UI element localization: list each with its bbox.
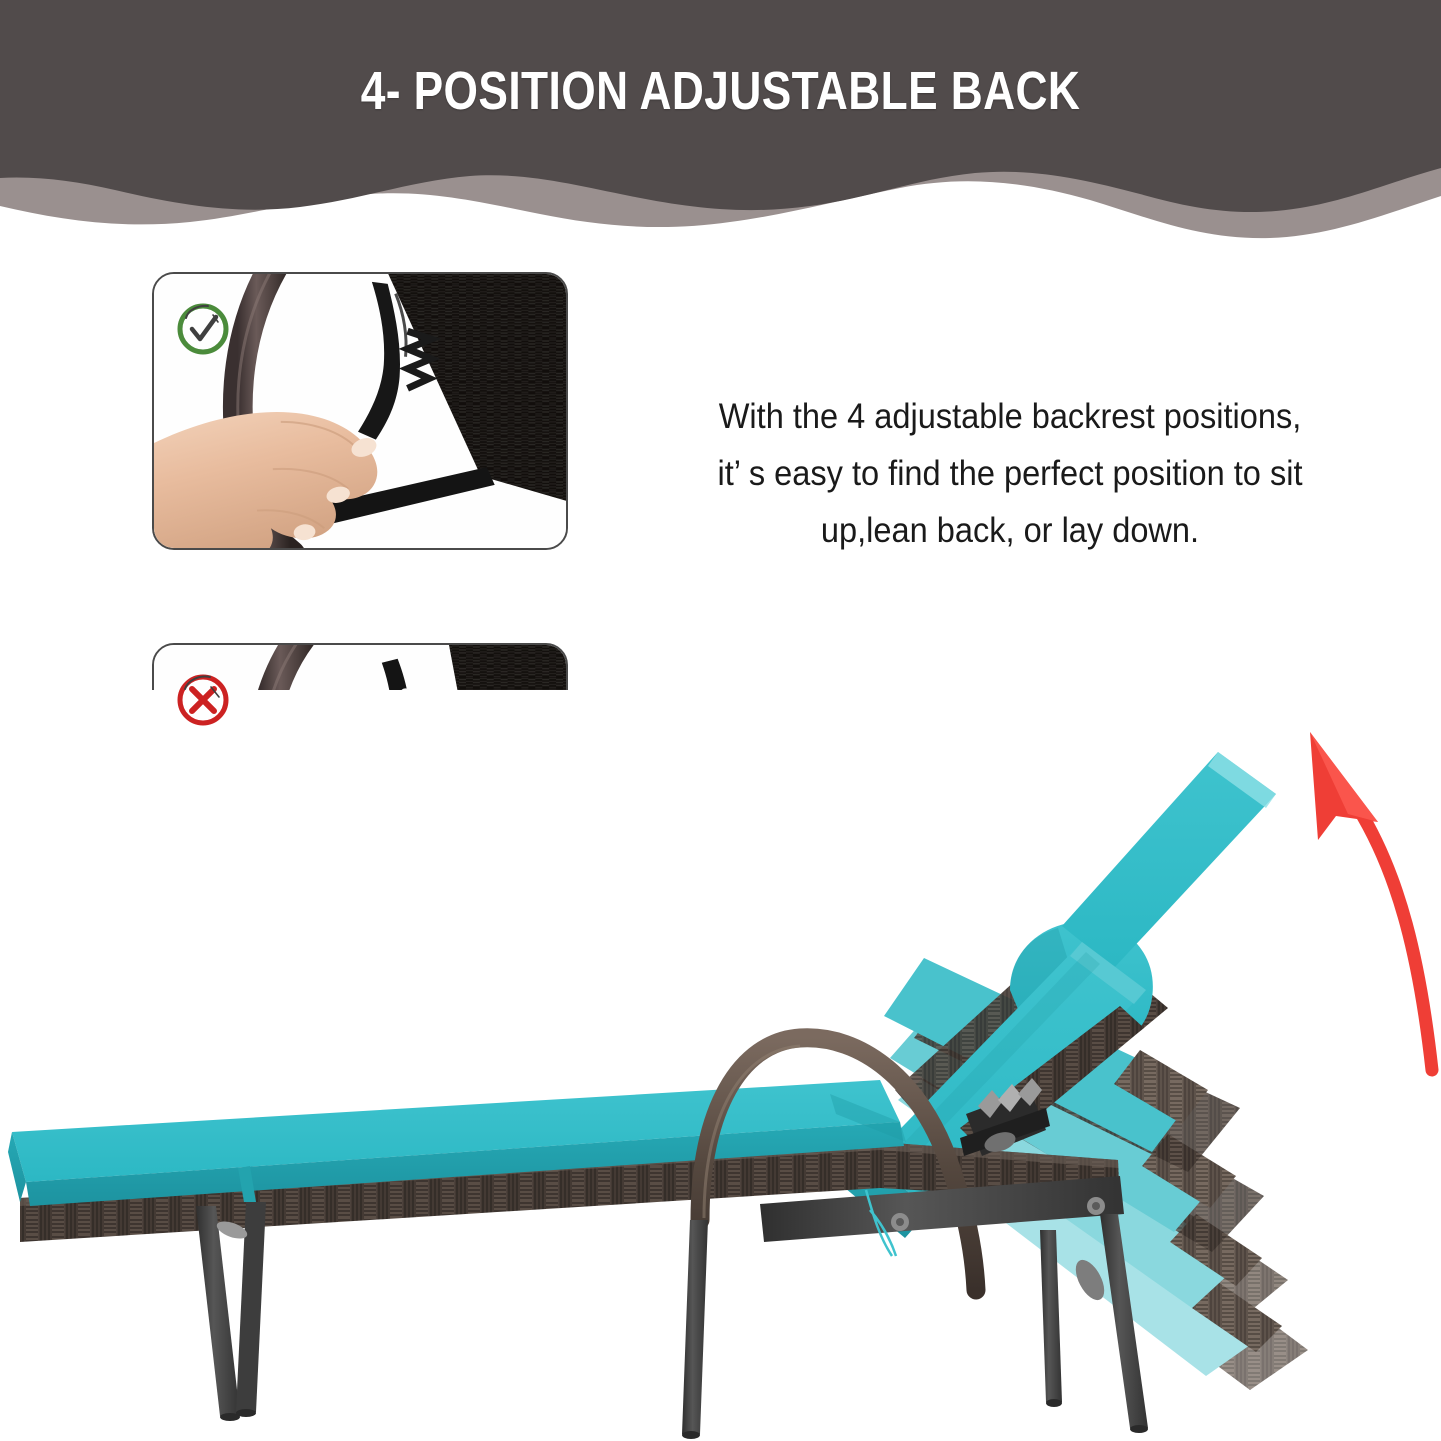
product-feature-graphic: 4- POSITION ADJUSTABLE BACK xyxy=(0,0,1441,1441)
header-banner: 4- POSITION ADJUSTABLE BACK xyxy=(0,0,1441,250)
description-line-1: With the 4 adjustable backrest positions… xyxy=(638,388,1382,445)
page-title: 4- POSITION ADJUSTABLE BACK xyxy=(130,60,1312,122)
description-line-3: up,lean back, or lay down. xyxy=(638,502,1382,559)
feature-description: With the 4 adjustable backrest positions… xyxy=(638,388,1382,559)
x-circle-icon xyxy=(172,669,234,731)
check-circle-icon xyxy=(172,298,234,360)
panel-correct-grip xyxy=(152,272,568,550)
description-line-2: it’ s easy to find the perfect position … xyxy=(638,445,1382,502)
product-image-chaise-lounge xyxy=(0,690,1441,1441)
